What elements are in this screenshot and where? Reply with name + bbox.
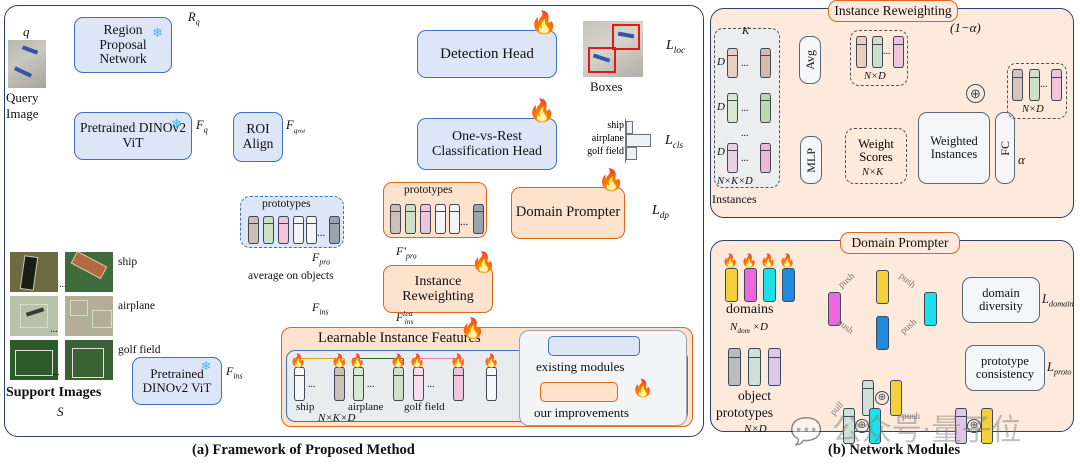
prototypes-orange-ellipsis: ...: [460, 216, 468, 228]
boxes-label: Boxes: [590, 79, 623, 95]
title-instance-reweighting: Instance Reweighting: [828, 0, 958, 22]
query-symbol: q: [23, 24, 30, 40]
loss-loc: Lloc: [666, 38, 685, 55]
module-ovr-classification-head[interactable]: One-vs-Rest Classification Head: [417, 118, 557, 170]
edge-label-fpro-prime: F'pro: [396, 244, 417, 260]
edge-label-fins: Fins: [226, 364, 243, 380]
loss-dp: Ldp: [652, 203, 669, 220]
plus-operator-top: ⊕: [875, 391, 889, 405]
learnable-group-label-0: ship: [296, 401, 314, 413]
dim-d-label-0: D: [717, 56, 725, 68]
reweighting-output-bars: ...: [1012, 69, 1062, 103]
domains-label: domains: [726, 302, 773, 318]
flame-icon-instance-reweighting: 🔥: [471, 250, 496, 275]
block-weighted-instances[interactable]: Weighted Instances: [918, 112, 990, 184]
dim-d-label-1: D: [717, 101, 725, 113]
dims-instances: N×K×D: [717, 176, 753, 187]
support-images-grid: ... ... ...: [10, 252, 118, 380]
module-detection-head-label: Detection Head: [440, 46, 534, 62]
flame-icon-ovr-head: 🔥: [528, 98, 555, 124]
caption-b: (b) Network Modules: [828, 442, 960, 459]
module-detection-head[interactable]: Detection Head: [417, 30, 557, 78]
avg-output-ellipsis: ...: [883, 46, 891, 57]
module-roi-align-label: ROI Align: [234, 122, 282, 151]
domains-dims: Ndom ×D: [730, 321, 768, 335]
legend-swatch-existing: [548, 336, 640, 356]
module-roi-align[interactable]: ROI Align: [233, 112, 283, 162]
loss-domain: Ldomain: [1042, 292, 1074, 309]
loss-cls: Lcls: [665, 133, 683, 150]
snowflake-icon-rpn: ❄: [152, 25, 163, 41]
legend-swatch-ours: [540, 382, 618, 402]
query-label-line1: Query: [6, 90, 39, 106]
push-label-2: push: [835, 317, 855, 336]
support-class-label-0: ship: [118, 256, 137, 268]
block-avg[interactable]: Avg: [799, 36, 821, 84]
flame-icon-domain-prompter: 🔥: [598, 168, 624, 193]
prototypes-blue-ellipsis: ...: [317, 227, 325, 239]
instances-label: Instances: [712, 192, 757, 207]
object-prototypes-label-2: prototypes: [716, 405, 773, 421]
one-minus-alpha-label: (1−α): [950, 20, 981, 36]
dims-reweighting-output: N×D: [1022, 104, 1044, 115]
figure-root: q Query Image Region Proposal Network ❄ …: [0, 0, 1080, 469]
push-diagram: push push push push: [820, 270, 950, 340]
reweighting-output-ellipsis: ...: [1040, 79, 1048, 90]
caption-a: (a) Framework of Proposed Method: [192, 442, 415, 459]
dim-d-label-2: D: [717, 146, 725, 158]
learnable-title: Learnable Instance Features: [318, 330, 481, 347]
flame-icon-learnable: 🔥: [460, 316, 485, 341]
block-fc[interactable]: FC: [995, 112, 1015, 184]
module-instance-reweighting-label: Instance Reweighting: [387, 274, 489, 304]
edge-label-fq: Fq: [196, 118, 208, 135]
block-prototype-consistency[interactable]: prototype consistency: [965, 345, 1045, 391]
push-label-3: push: [899, 317, 919, 336]
object-prototypes-bars: [726, 348, 788, 386]
loss-proto: Lproto: [1047, 360, 1072, 377]
alpha-label: α: [1018, 152, 1025, 168]
legend-label-existing: existing modules: [536, 359, 624, 375]
block-domain-diversity[interactable]: domain diversity: [962, 277, 1040, 323]
flame-icon-detection-head: 🔥: [530, 10, 557, 36]
class-score-label-2: golf field: [578, 146, 624, 157]
average-on-objects-label: average on objects: [248, 270, 334, 282]
module-ovr-classification-head-label: One-vs-Rest Classification Head: [421, 129, 553, 159]
class-score-label-0: ship: [578, 120, 624, 131]
class-score-bar-0: [626, 121, 633, 134]
prototypes-orange-title: prototypes: [404, 184, 453, 196]
prototypes-orange-bars: ...: [388, 202, 484, 234]
push-label-1: push: [897, 271, 917, 290]
object-prototypes-label-1: object: [738, 388, 771, 404]
dims-avg: N×D: [864, 71, 886, 82]
edge-label-fins-dotted: Fins: [312, 300, 329, 316]
support-class-label-1: airplane: [118, 300, 155, 312]
instances-bars: ... ... ... ...: [727, 48, 779, 180]
class-scores: ship airplane golf field: [578, 120, 648, 166]
query-label-line2: Image: [6, 106, 38, 122]
push-label-0: push: [837, 271, 857, 290]
prototypes-blue-title: prototypes: [262, 198, 311, 210]
dims-weight-scores: N×K: [862, 167, 883, 178]
class-score-bar-1: [626, 134, 651, 147]
dim-k-label: K: [742, 25, 749, 37]
edge-label-rq: Rq: [188, 10, 200, 27]
block-mlp[interactable]: MLP: [800, 136, 822, 184]
legend-label-ours: our improvements: [534, 405, 629, 421]
module-domain-prompter[interactable]: Domain Prompter: [511, 187, 625, 239]
object-prototypes-dims: N×D: [744, 423, 767, 435]
avg-output-bars: ...: [856, 36, 904, 70]
edge-label-fqroi: Fqroi: [286, 118, 305, 135]
sum-operator-reweighting: ⊕: [966, 84, 985, 103]
snowflake-icon-dinov2-query: ❄: [171, 116, 182, 132]
edge-label-fpro: Fpro: [312, 250, 330, 266]
support-symbol: S: [57, 404, 64, 420]
edge-label-fins-lea: Fleains: [396, 310, 414, 326]
domains-bars: 🔥 🔥 🔥 🔥: [723, 258, 803, 302]
prototypes-blue-bars: ...: [246, 214, 340, 244]
learnable-dims-fg: N×K×D: [318, 412, 355, 424]
learnable-group-label-2: golf field: [404, 401, 445, 413]
flame-icon-legend: 🔥: [632, 379, 653, 399]
title-domain-prompter: Domain Prompter: [840, 232, 960, 254]
class-score-bar-2: [626, 147, 637, 160]
support-class-label-2: golf field: [118, 344, 160, 356]
support-images-label: Support Images: [6, 385, 101, 401]
snowflake-icon-dinov2-support: ❄: [201, 359, 211, 374]
class-score-label-1: airplane: [578, 133, 624, 144]
module-domain-prompter-label: Domain Prompter: [516, 205, 620, 221]
